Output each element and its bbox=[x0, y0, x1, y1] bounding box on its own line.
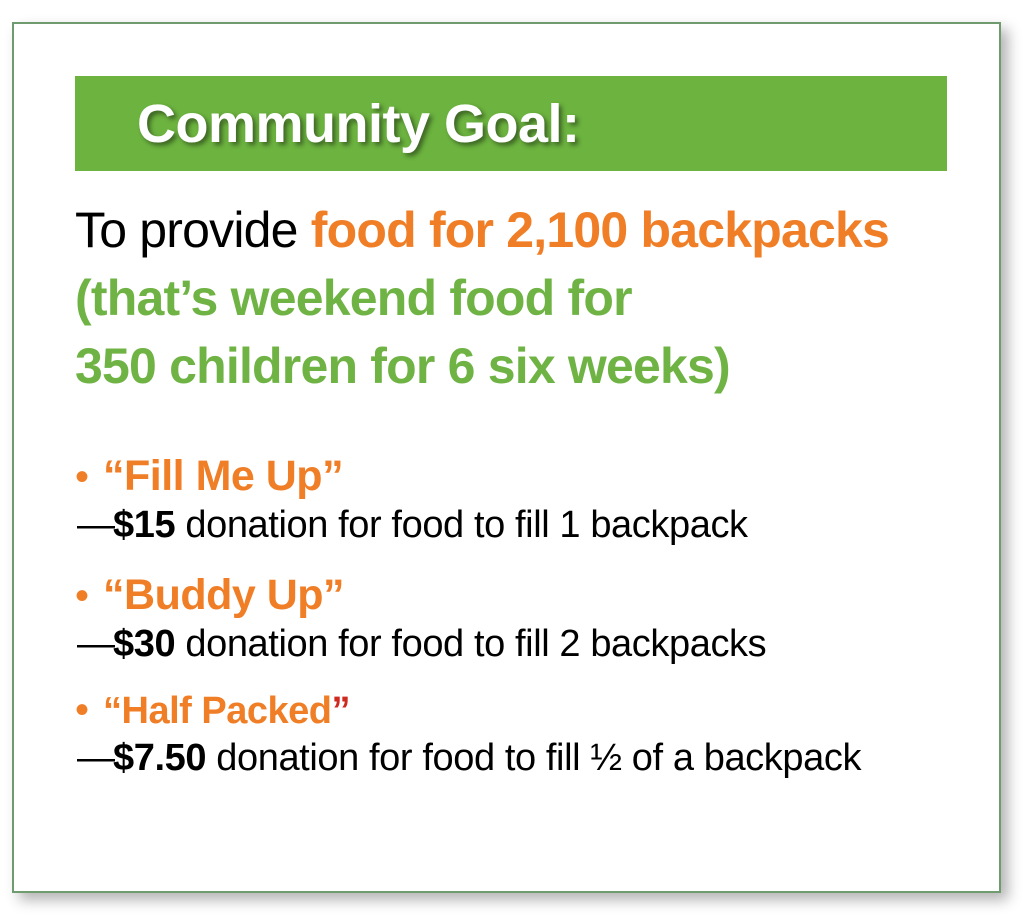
tier-name-text: “Half Packed bbox=[103, 690, 331, 732]
donation-tier-list: • “Fill Me Up” —$15 donation for food to… bbox=[75, 452, 995, 781]
tier-name: “Half Packed” bbox=[103, 690, 350, 734]
em-dash-icon: — bbox=[77, 504, 113, 546]
donation-tier-half-packed: • “Half Packed” —$7.50 donation for food… bbox=[75, 690, 995, 781]
tier-name-closing-quote: ” bbox=[331, 690, 350, 732]
lead-line: To provide food for 2,100 backpacks bbox=[75, 196, 975, 264]
bullet-icon: • bbox=[75, 576, 89, 616]
tier-description: donation for food to fill 2 backpacks bbox=[175, 623, 766, 665]
donation-tier-fill-me-up: • “Fill Me Up” —$15 donation for food to… bbox=[75, 452, 995, 549]
tier-description: donation for food to fill ½ of a backpac… bbox=[206, 737, 861, 779]
tier-heading: • “Half Packed” bbox=[75, 690, 995, 734]
lead-plain-text: To provide bbox=[75, 202, 311, 258]
tier-name: “Fill Me Up” bbox=[103, 452, 343, 501]
donation-tier-buddy-up: • “Buddy Up” —$30 donation for food to f… bbox=[75, 571, 995, 668]
tier-detail: —$15 donation for food to fill 1 backpac… bbox=[75, 503, 995, 549]
title-bar: Community Goal: bbox=[75, 76, 947, 171]
bullet-icon: • bbox=[75, 690, 89, 730]
page-title: Community Goal: bbox=[137, 97, 580, 151]
tier-amount: $15 bbox=[113, 504, 175, 546]
tier-detail: —$7.50 donation for food to fill ½ of a … bbox=[75, 736, 995, 782]
poster-card: Community Goal: To provide food for 2,10… bbox=[12, 22, 1001, 893]
tier-detail: —$30 donation for food to fill 2 backpac… bbox=[75, 622, 995, 668]
bullet-icon: • bbox=[75, 457, 89, 497]
parenthetical-line-1: (that’s weekend food for bbox=[75, 264, 975, 332]
tier-amount: $30 bbox=[113, 623, 175, 665]
tier-heading: • “Fill Me Up” bbox=[75, 452, 995, 501]
em-dash-icon: — bbox=[77, 623, 113, 665]
parenthetical-line-2: 350 children for 6 six weeks) bbox=[75, 332, 975, 400]
tier-description: donation for food to fill 1 backpack bbox=[175, 504, 747, 546]
tier-heading: • “Buddy Up” bbox=[75, 571, 995, 620]
tier-name: “Buddy Up” bbox=[103, 571, 344, 620]
tier-amount: $7.50 bbox=[113, 737, 206, 779]
lead-accent-text: food for 2,100 backpacks bbox=[311, 202, 889, 258]
goal-description: To provide food for 2,100 backpacks (tha… bbox=[75, 196, 975, 400]
em-dash-icon: — bbox=[77, 737, 113, 779]
